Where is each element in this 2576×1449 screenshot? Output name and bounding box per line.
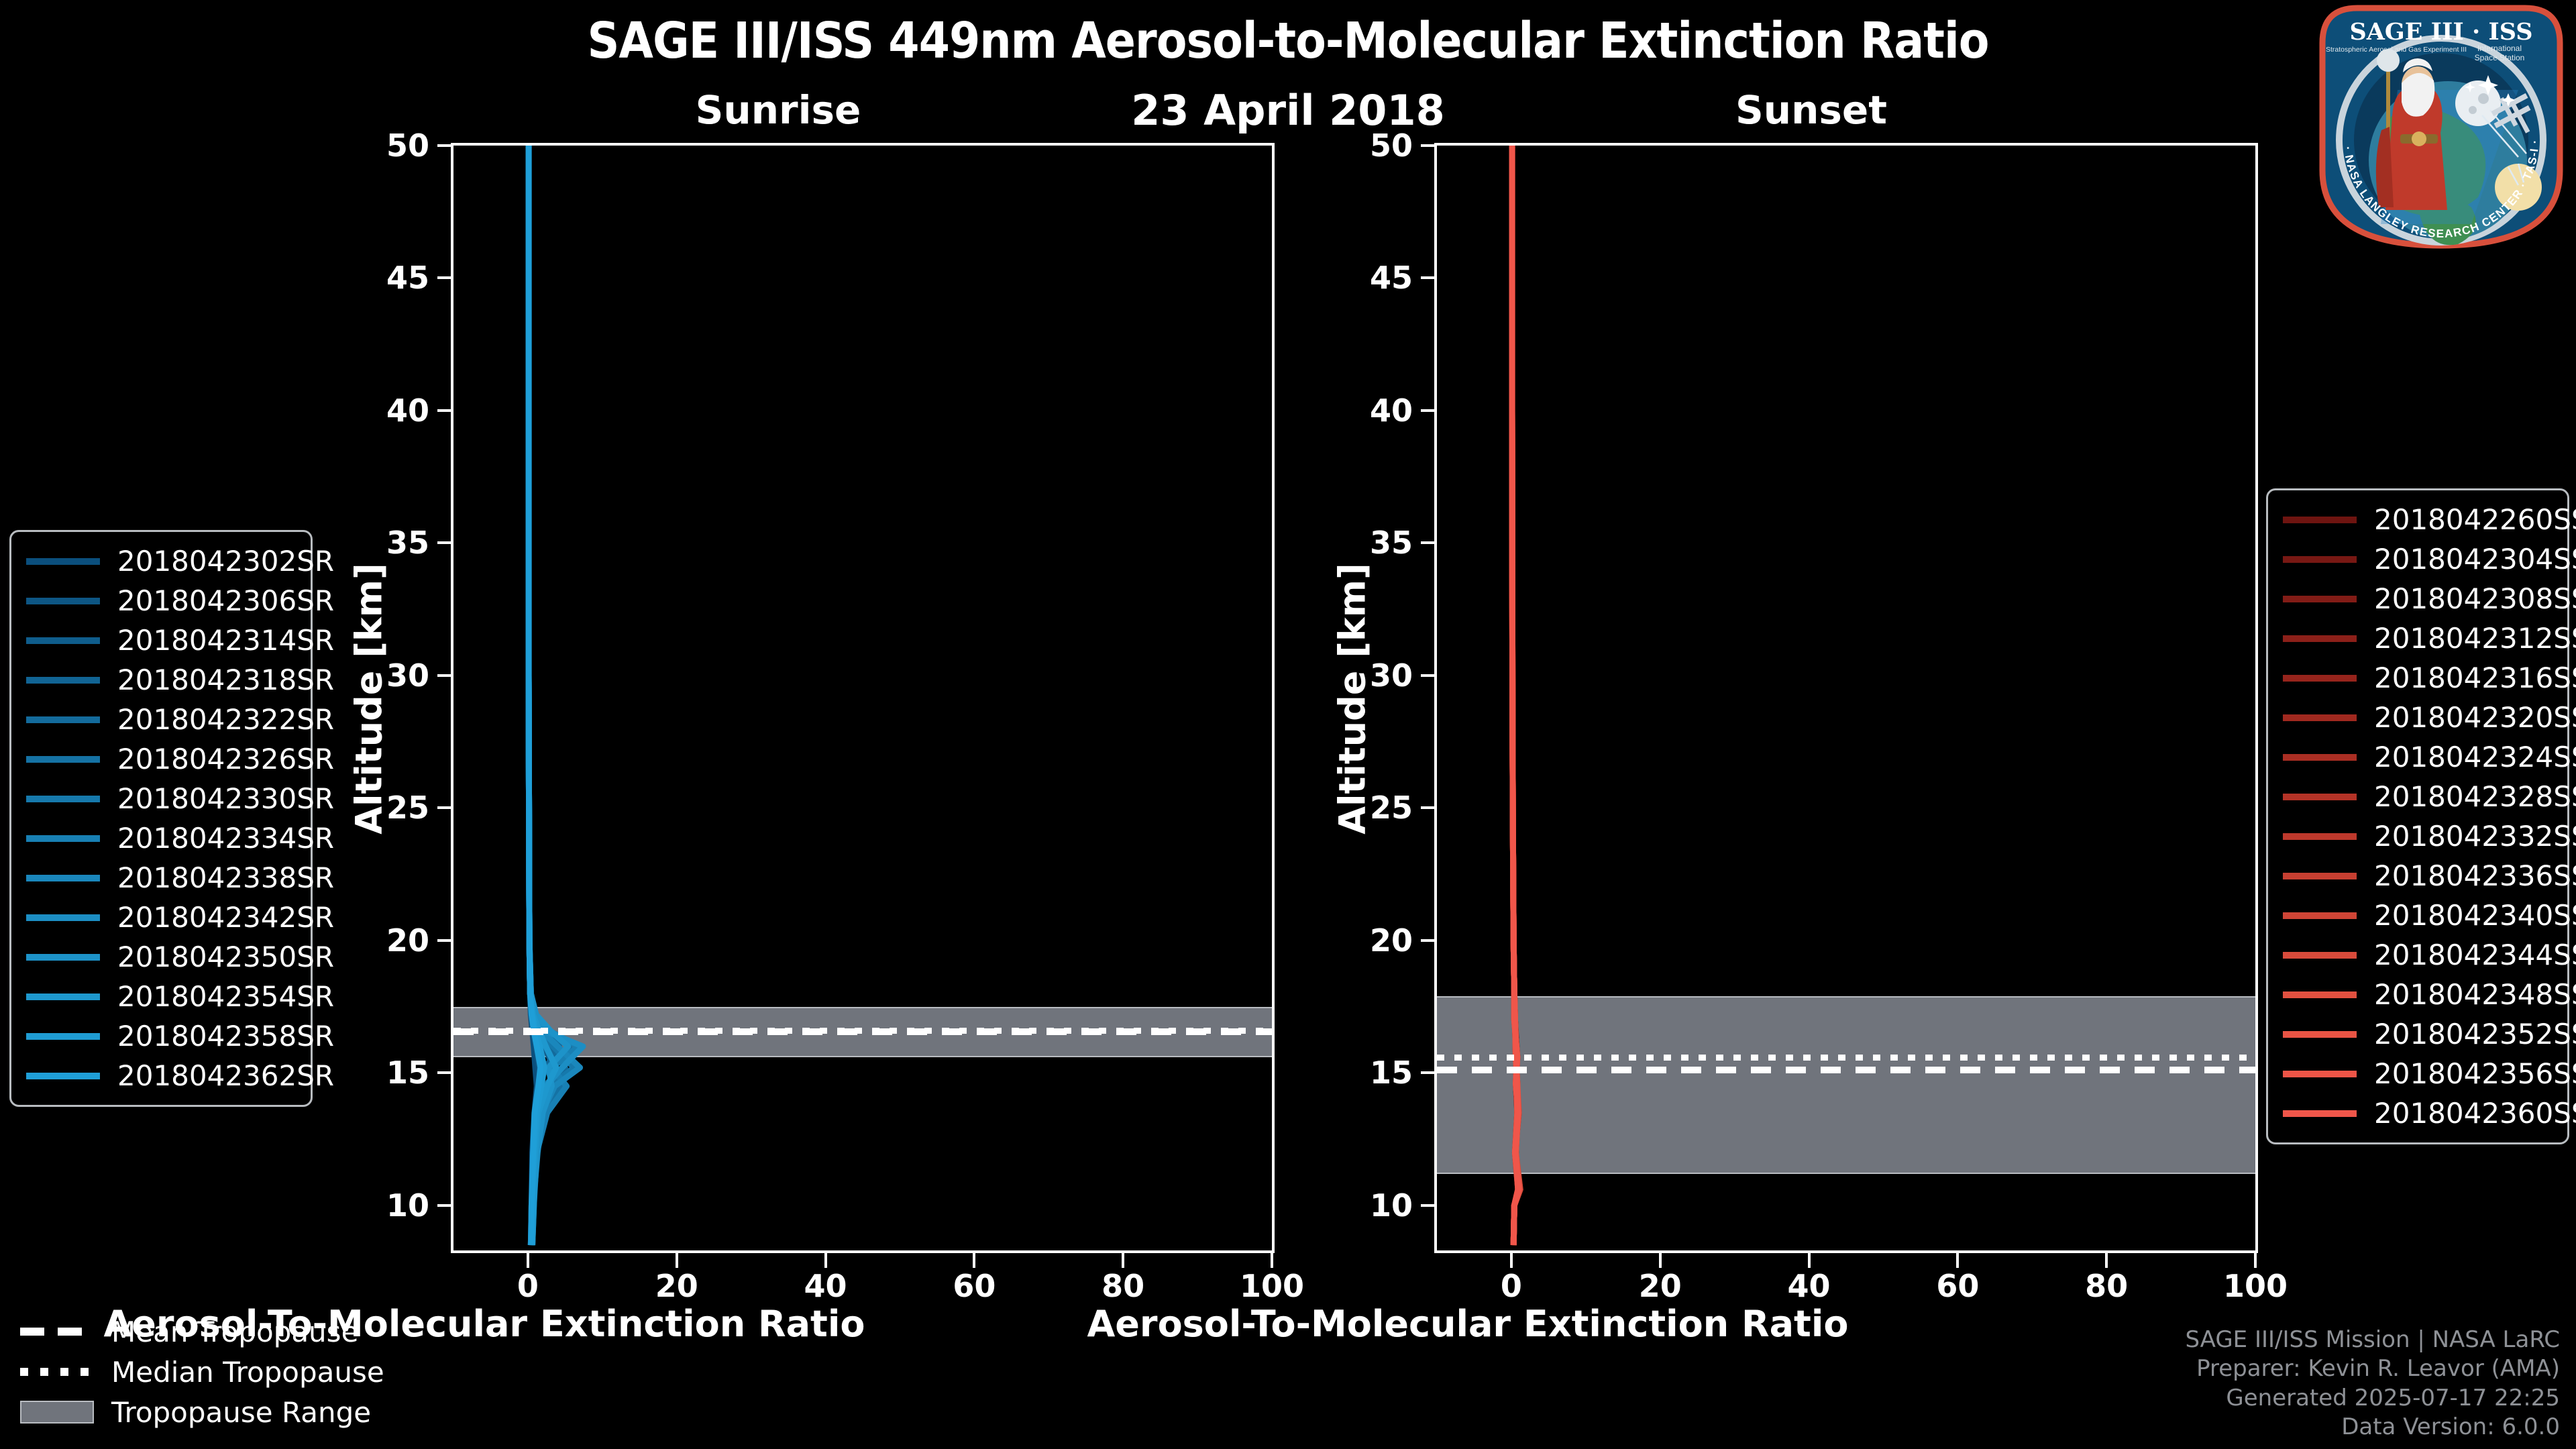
sunset-legend-item[interactable]: 2018042320SS (2283, 698, 2553, 737)
y-tick-mark-50 (437, 144, 451, 147)
legend-item-label: 2018042328SS (2374, 780, 2576, 813)
legend-item-label: 2018042318SR (117, 663, 334, 696)
y-tick-mark-30 (437, 674, 451, 677)
legend-item-label: 2018042352SS (2374, 1018, 2576, 1051)
y-tick-20: 20 (1332, 922, 1413, 959)
sunset-legend-item[interactable]: 2018042344SS (2283, 935, 2553, 975)
sunset-legend[interactable]: 2018042260SS2018042304SS2018042308SS2018… (2266, 488, 2569, 1144)
x-tick-mark-0 (527, 1253, 529, 1268)
legend-item-label: 2018042306SR (117, 584, 334, 617)
sunset-legend-item[interactable]: 2018042340SS (2283, 896, 2553, 935)
legend-item-label: 2018042342SR (117, 901, 334, 934)
y-tick-mark-35 (437, 541, 451, 544)
legend-item-label: 2018042332SS (2374, 820, 2576, 853)
legend-item-label: 2018042314SR (117, 624, 334, 657)
legend-color-swatch (26, 677, 100, 684)
y-tick-mark-45 (437, 276, 451, 279)
legend-color-swatch (2283, 833, 2357, 840)
x-tick-0: 0 (1458, 1268, 1565, 1304)
sunrise-legend-item[interactable]: 2018042362SR (26, 1056, 296, 1095)
y-tick-10: 10 (1332, 1187, 1413, 1224)
legend-color-swatch (2283, 754, 2357, 761)
sunrise-legend-item[interactable]: 2018042326SR (26, 739, 296, 779)
y-tick-40: 40 (349, 392, 429, 429)
legend-color-swatch (2283, 1031, 2357, 1038)
sunrise-legend-item[interactable]: 2018042306SR (26, 581, 296, 621)
legend-color-swatch (2283, 1071, 2357, 1077)
sunset-plot-area (1434, 143, 2258, 1253)
x-tick-60: 60 (920, 1268, 1028, 1304)
sunset-legend-item[interactable]: 2018042308SS (2283, 579, 2553, 619)
y-tick-15: 15 (349, 1055, 429, 1091)
sunset-legend-item[interactable]: 2018042312SS (2283, 619, 2553, 658)
sunset-y-axis-title: Altitude [km] (1332, 498, 1374, 900)
x-tick-mark-80 (2105, 1253, 2108, 1268)
legend-item-label: 2018042334SR (117, 822, 334, 855)
sunrise-y-axis-title: Altitude [km] (348, 498, 390, 900)
x-tick-100: 100 (2202, 1268, 2309, 1304)
page-title: SAGE III/ISS 449nm Aerosol-to-Molecular … (0, 12, 2576, 70)
x-tick-mark-100 (2254, 1253, 2257, 1268)
sunset-legend-item[interactable]: 2018042316SS (2283, 658, 2553, 698)
x-tick-20: 20 (623, 1268, 731, 1304)
x-tick-80: 80 (2053, 1268, 2160, 1304)
x-tick-20: 20 (1607, 1268, 1714, 1304)
tropopause-legend: Mean TropopauseMedian TropopauseTropopau… (20, 1311, 449, 1432)
y-tick-mark-25 (1421, 806, 1434, 809)
legend-item-label: 2018042344SS (2374, 938, 2576, 971)
legend-color-swatch (26, 835, 100, 842)
sunset-legend-item[interactable]: 2018042360SS (2283, 1093, 2553, 1133)
x-tick-mark-20 (1659, 1253, 1662, 1268)
y-tick-mark-10 (1421, 1204, 1434, 1207)
legend-color-swatch (26, 1033, 100, 1040)
x-tick-40: 40 (1756, 1268, 1863, 1304)
footer-line-preparer: Preparer: Kevin R. Leavor (AMA) (2185, 1354, 2560, 1384)
sunset-x-axis-title: Aerosol-To-Molecular Extinction Ratio (998, 1303, 1937, 1345)
date-label: 23 April 2018 (1046, 86, 1529, 135)
legend-item-label: 2018042316SS (2374, 661, 2576, 694)
x-tick-100: 100 (1218, 1268, 1326, 1304)
legend-item-label: 2018042336SS (2374, 859, 2576, 892)
legend-item-label: 2018042326SR (117, 743, 334, 775)
legend-color-swatch (2283, 991, 2357, 998)
sunrise-profile-traces (453, 146, 1272, 1250)
legend-item-label: 2018042312SS (2374, 622, 2576, 655)
y-tick-mark-45 (1421, 276, 1434, 279)
legend-color-swatch (2283, 873, 2357, 879)
sunset-legend-item[interactable]: 2018042352SS (2283, 1014, 2553, 1054)
legend-color-swatch (2283, 794, 2357, 800)
legend-color-swatch (26, 558, 100, 565)
legend-item-label: 2018042320SS (2374, 701, 2576, 734)
legend-color-swatch (2283, 912, 2357, 919)
legend-item-label: 2018042362SR (117, 1059, 334, 1092)
legend-color-swatch (26, 796, 100, 802)
tropopause-key-swatch-dashed (20, 1328, 94, 1336)
legend-color-swatch (2283, 596, 2357, 602)
sunset-panel-label: Sunset (1623, 87, 1999, 133)
sunset-profile-traces (1437, 146, 2255, 1250)
sunset-legend-item[interactable]: 2018042328SS (2283, 777, 2553, 816)
sunrise-legend-item[interactable]: 2018042318SR (26, 660, 296, 700)
series-2018042360SS (1512, 146, 1519, 1245)
legend-color-swatch (26, 954, 100, 961)
x-tick-0: 0 (474, 1268, 582, 1304)
y-tick-10: 10 (349, 1187, 429, 1224)
y-tick-mark-10 (437, 1204, 451, 1207)
x-tick-40: 40 (772, 1268, 879, 1304)
y-tick-mark-15 (437, 1071, 451, 1074)
tropopause-key-label: Mean Tropopause (111, 1316, 358, 1348)
x-tick-80: 80 (1069, 1268, 1177, 1304)
y-tick-45: 45 (349, 260, 429, 296)
sunrise-legend-item[interactable]: 2018042338SR (26, 858, 296, 898)
sunrise-legend-item[interactable]: 2018042350SR (26, 937, 296, 977)
sunrise-legend-item[interactable]: 2018042358SR (26, 1016, 296, 1056)
tropopause-key-item: Median Tropopause (20, 1352, 449, 1392)
legend-color-swatch (26, 875, 100, 881)
sunset-legend-item[interactable]: 2018042336SS (2283, 856, 2553, 896)
sunrise-legend-item[interactable]: 2018042334SR (26, 818, 296, 858)
legend-color-swatch (2283, 952, 2357, 959)
legend-item-label: 2018042324SS (2374, 741, 2576, 773)
sunrise-legend-item[interactable]: 2018042302SR (26, 541, 296, 581)
y-tick-45: 45 (1332, 260, 1413, 296)
legend-item-label: 2018042308SS (2374, 582, 2576, 615)
sunset-legend-item[interactable]: 2018042332SS (2283, 816, 2553, 856)
legend-color-swatch (2283, 635, 2357, 642)
sunrise-panel-label: Sunrise (590, 87, 966, 133)
sunrise-legend-item[interactable]: 2018042342SR (26, 898, 296, 937)
legend-color-swatch (26, 637, 100, 644)
tropopause-key-item: Mean Tropopause (20, 1311, 449, 1352)
legend-item-label: 2018042338SR (117, 861, 334, 894)
sage-iii-iss-logo: SAGE III · ISS Stratospheric Aerosol and… (2317, 3, 2565, 251)
y-tick-20: 20 (349, 922, 429, 959)
y-tick-mark-20 (437, 939, 451, 942)
sunset-legend-item[interactable]: 2018042356SS (2283, 1054, 2553, 1093)
logo-subtitle-right-2: Space Station (2475, 53, 2525, 62)
legend-color-swatch (2283, 675, 2357, 682)
tropopause-key-swatch-dotted (20, 1368, 94, 1376)
sunrise-legend-item[interactable]: 2018042322SR (26, 700, 296, 739)
sunrise-legend-item[interactable]: 2018042330SR (26, 779, 296, 818)
legend-item-label: 2018042304SS (2374, 543, 2576, 576)
legend-item-label: 2018042260SS (2374, 503, 2576, 536)
tropopause-key-swatch-band (20, 1401, 94, 1424)
legend-item-label: 2018042322SR (117, 703, 334, 736)
footer-credits: SAGE III/ISS Mission | NASA LaRC Prepare… (2185, 1326, 2560, 1442)
legend-color-swatch (26, 994, 100, 1000)
legend-item-label: 2018042358SR (117, 1020, 334, 1053)
legend-color-swatch (26, 716, 100, 723)
y-tick-mark-30 (1421, 674, 1434, 677)
logo-title: SAGE III · ISS (2349, 18, 2532, 46)
y-tick-40: 40 (1332, 392, 1413, 429)
logo-subtitle-left: Stratospheric Aerosol and Gas Experiment… (2326, 46, 2467, 54)
tropopause-key-item: Tropopause Range (20, 1392, 449, 1432)
y-tick-mark-25 (437, 806, 451, 809)
legend-item-label: 2018042348SS (2374, 978, 2576, 1011)
legend-color-swatch (26, 598, 100, 604)
median-tropopause-line (1437, 1055, 2255, 1061)
legend-item-label: 2018042360SS (2374, 1097, 2576, 1130)
footer-line-version: Data Version: 6.0.0 (2185, 1413, 2560, 1442)
sunrise-plot-area (451, 143, 1275, 1253)
logo-subtitle-right-1: International (2477, 44, 2522, 53)
y-tick-mark-35 (1421, 541, 1434, 544)
x-tick-60: 60 (1904, 1268, 2011, 1304)
mean-tropopause-line (1437, 1067, 2255, 1073)
legend-color-swatch (26, 914, 100, 921)
x-tick-mark-20 (676, 1253, 678, 1268)
x-tick-mark-100 (1271, 1253, 1273, 1268)
y-tick-mark-15 (1421, 1071, 1434, 1074)
legend-color-swatch (26, 756, 100, 763)
y-tick-mark-50 (1421, 144, 1434, 147)
legend-item-label: 2018042350SR (117, 941, 334, 973)
sunset-legend-item[interactable]: 2018042304SS (2283, 539, 2553, 579)
footer-line-mission: SAGE III/ISS Mission | NASA LaRC (2185, 1326, 2560, 1355)
legend-color-swatch (2283, 517, 2357, 523)
x-tick-mark-0 (1510, 1253, 1513, 1268)
legend-item-label: 2018042354SR (117, 980, 334, 1013)
x-tick-mark-80 (1122, 1253, 1124, 1268)
x-tick-mark-40 (1808, 1253, 1811, 1268)
x-tick-mark-60 (1956, 1253, 1959, 1268)
y-tick-15: 15 (1332, 1055, 1413, 1091)
sunrise-legend-item[interactable]: 2018042354SR (26, 977, 296, 1016)
legend-color-swatch (2283, 1110, 2357, 1117)
sunset-legend-item[interactable]: 2018042260SS (2283, 500, 2553, 539)
x-tick-mark-40 (824, 1253, 827, 1268)
mission-patch-icon: SAGE III · ISS Stratospheric Aerosol and… (2317, 3, 2565, 251)
y-tick-50: 50 (1332, 127, 1413, 164)
legend-item-label: 2018042356SS (2374, 1057, 2576, 1090)
legend-item-label: 2018042302SR (117, 545, 334, 578)
y-tick-mark-40 (1421, 409, 1434, 412)
sunset-legend-item[interactable]: 2018042348SS (2283, 975, 2553, 1014)
sunrise-legend-item[interactable]: 2018042314SR (26, 621, 296, 660)
footer-line-generated: Generated 2025-07-17 22:25 (2185, 1384, 2560, 1413)
y-tick-mark-40 (437, 409, 451, 412)
legend-color-swatch (26, 1073, 100, 1079)
sunset-legend-item[interactable]: 2018042324SS (2283, 737, 2553, 777)
legend-color-swatch (2283, 714, 2357, 721)
tropopause-key-label: Median Tropopause (111, 1356, 384, 1389)
mean-tropopause-line (453, 1028, 1272, 1035)
legend-item-label: 2018042330SR (117, 782, 334, 815)
legend-item-label: 2018042340SS (2374, 899, 2576, 932)
y-tick-50: 50 (349, 127, 429, 164)
legend-color-swatch (2283, 556, 2357, 563)
tropopause-key-label: Tropopause Range (111, 1396, 371, 1429)
x-tick-mark-60 (973, 1253, 975, 1268)
y-tick-mark-20 (1421, 939, 1434, 942)
sunrise-legend[interactable]: 2018042302SR2018042306SR2018042314SR2018… (9, 530, 313, 1107)
